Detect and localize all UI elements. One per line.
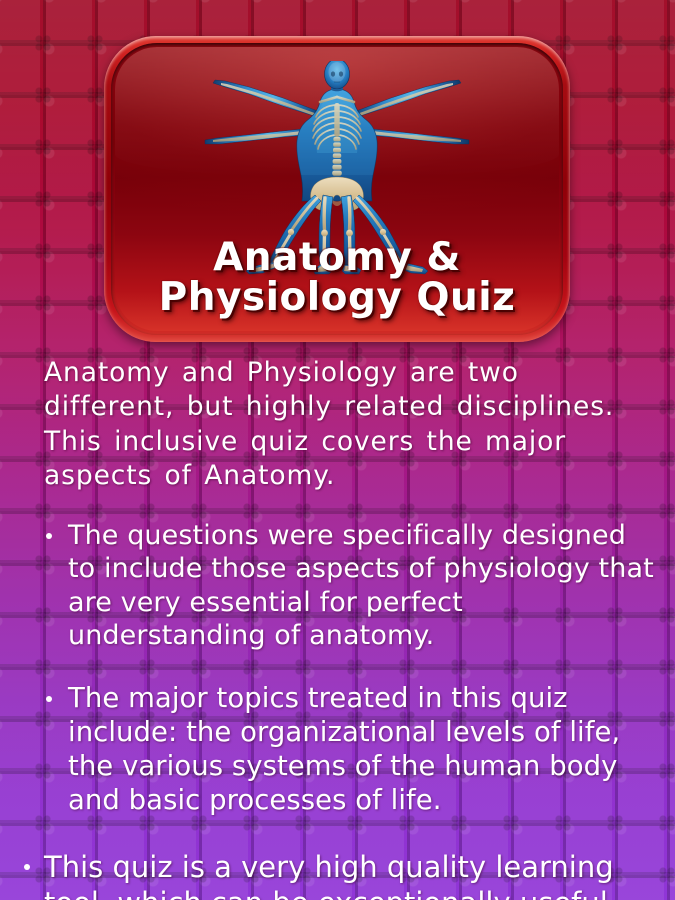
bullet-dot-icon (24, 864, 30, 870)
list-item: The questions were specifically designed… (44, 519, 655, 652)
bullet-dot-icon (46, 533, 52, 539)
bullet-text: The questions were specifically designed… (68, 519, 655, 652)
app-icon-bezel: Anatomy & Physiology Quiz (111, 43, 563, 335)
app-icon-card[interactable]: Anatomy & Physiology Quiz (104, 36, 570, 342)
app-icon-inner-face: Anatomy & Physiology Quiz (115, 47, 559, 331)
description-block: Anatomy and Physiology are two different… (0, 356, 675, 900)
feature-bullet-list: The questions were specifically designed… (44, 519, 655, 900)
app-store-listing-screenshot: Anatomy & Physiology Quiz Anatomy and Ph… (0, 0, 675, 900)
bullet-dot-icon (46, 696, 52, 702)
app-icon-title: Anatomy & Physiology Quiz (115, 238, 559, 319)
list-item: The major topics treated in this quiz in… (44, 682, 655, 818)
intro-paragraph: Anatomy and Physiology are two different… (44, 356, 655, 493)
bullet-text: The major topics treated in this quiz in… (68, 682, 655, 818)
bullet-text: This quiz is a very high quality learnin… (44, 850, 655, 900)
list-item: This quiz is a very high quality learnin… (22, 850, 655, 900)
